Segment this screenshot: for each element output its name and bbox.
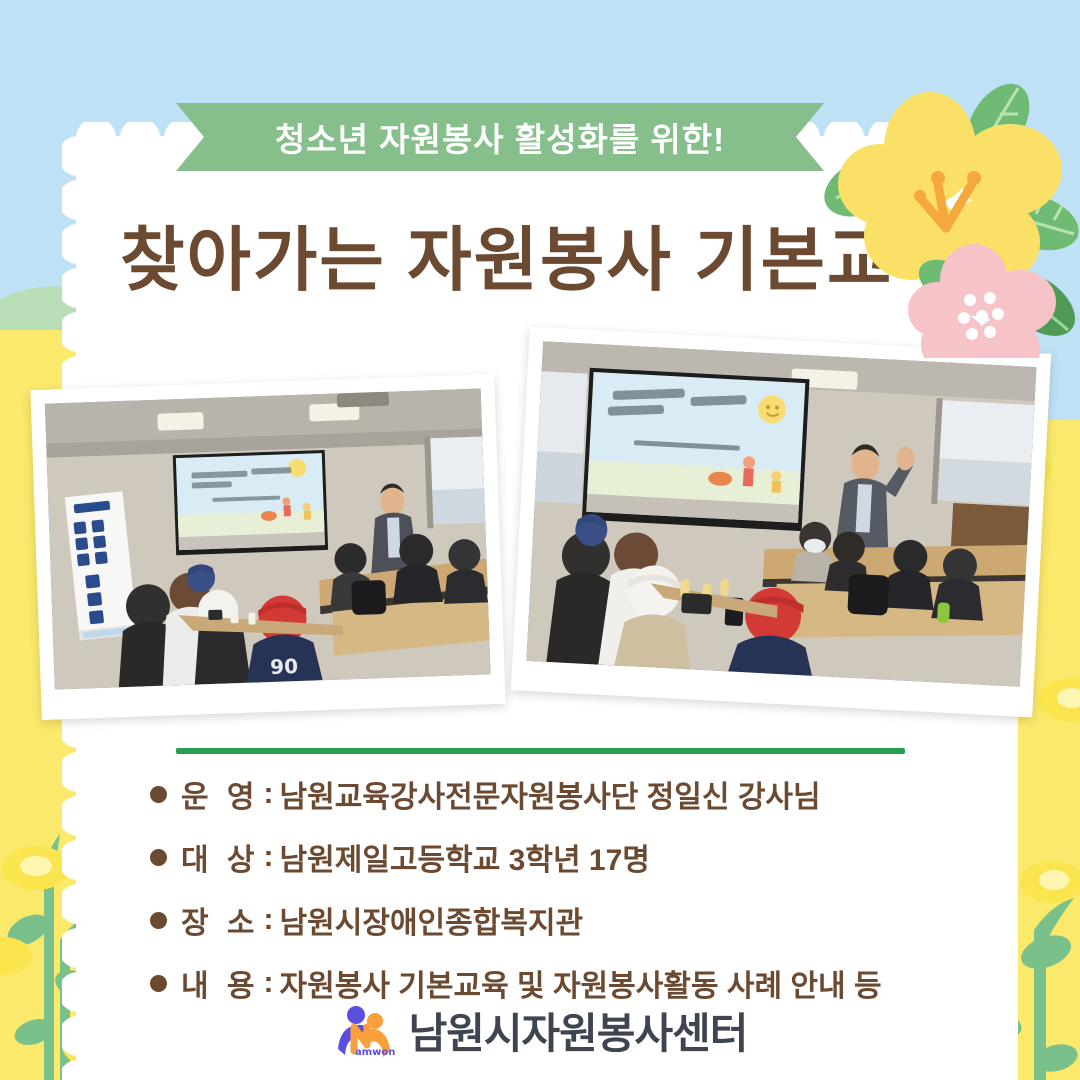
- list-item: 운 영 : 남원교육강사전문자원봉사단 정일신 강사님: [150, 772, 1010, 816]
- page-title: 찾아가는 자원봉사 기본교육: [0, 204, 1080, 305]
- namwon-volunteer-center-logo-icon: amwon: [333, 999, 395, 1061]
- svg-text:90: 90: [270, 654, 299, 679]
- ribbon-banner: 청소년 자원봉사 활성화를 위한!: [176, 103, 824, 171]
- logo-wordmark: amwon: [355, 1047, 395, 1058]
- photo-left-image: 90: [45, 388, 491, 689]
- bullet-icon: [150, 849, 167, 866]
- info-colon: :: [264, 840, 274, 874]
- list-item: 장 소 : 남원시장애인종합복지관: [150, 898, 1010, 942]
- info-value: 남원교육강사전문자원봉사단 정일신 강사님: [280, 772, 821, 816]
- info-value: 남원시장애인종합복지관: [280, 898, 584, 942]
- info-list: 운 영 : 남원교육강사전문자원봉사단 정일신 강사님 대 상 : 남원제일고등…: [150, 772, 1010, 1024]
- info-label: 운 영: [181, 772, 260, 816]
- bullet-icon: [150, 912, 167, 929]
- photo-classroom-right: [511, 327, 1051, 718]
- footer: amwon 남원시자원봉사센터: [0, 994, 1080, 1066]
- poster-canvas: 청소년 자원봉사 활성화를 위한! 찾아가는 자원봉사 기본교육: [0, 0, 1080, 1080]
- photo-classroom-left: 90: [30, 374, 505, 720]
- photo-right-image: [526, 341, 1036, 686]
- bullet-icon: [150, 786, 167, 803]
- ribbon-text: 청소년 자원봉사 활성화를 위한!: [176, 103, 824, 171]
- section-divider: [176, 748, 905, 754]
- bullet-icon: [150, 975, 167, 992]
- organization-name: 남원시자원봉사센터: [409, 1000, 748, 1061]
- info-label: 장 소: [181, 898, 260, 942]
- info-label: 대 상: [181, 835, 260, 879]
- info-colon: :: [264, 903, 274, 937]
- info-colon: :: [264, 777, 274, 811]
- info-value: 남원제일고등학교 3학년 17명: [280, 835, 650, 879]
- list-item: 대 상 : 남원제일고등학교 3학년 17명: [150, 835, 1010, 879]
